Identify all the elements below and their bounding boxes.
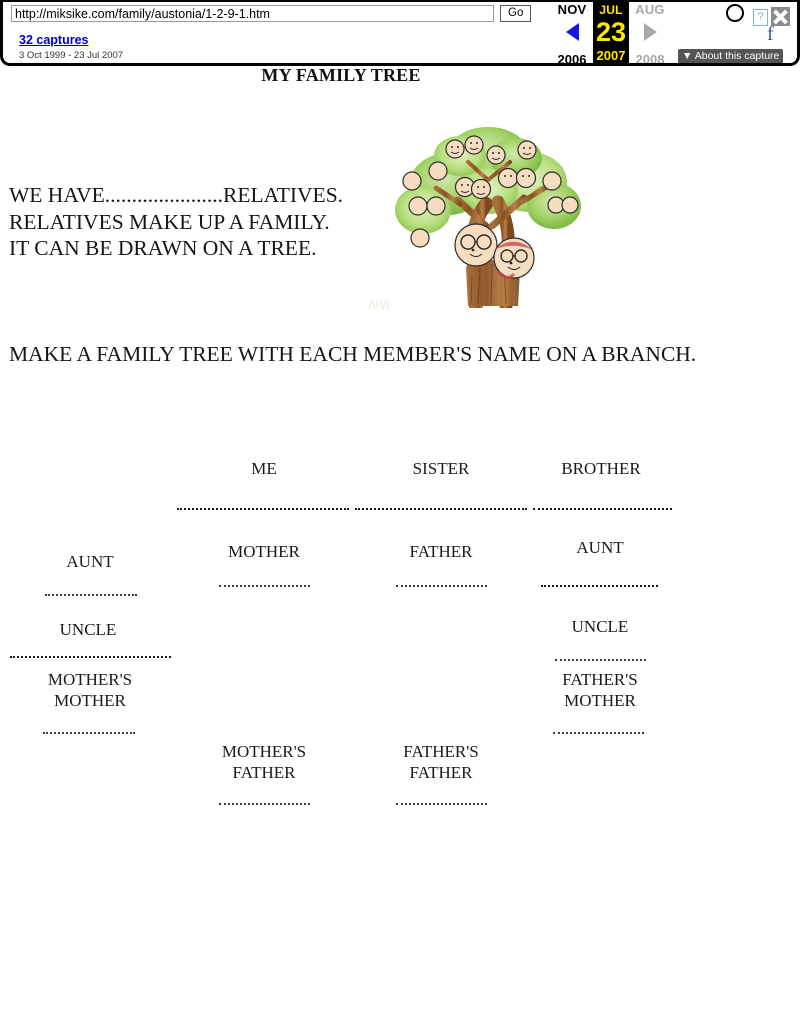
node-label: UNCLE <box>550 616 650 637</box>
next-capture-column[interactable]: AUG 2008 <box>629 2 671 66</box>
node-fathers-father: FATHER'S FATHER <box>391 741 491 783</box>
node-label: AUNT <box>40 551 140 572</box>
node-label: ME <box>214 458 314 479</box>
prev-capture-column[interactable]: NOV 2006 <box>551 2 593 66</box>
facebook-icon[interactable]: f <box>767 24 774 44</box>
node-label: MOTHER'S MOTHER <box>40 669 140 711</box>
family-tree-diagram: ME SISTER BROTHER AUNT MOTHER FATHER AUN… <box>0 440 800 840</box>
family-tree-illustration <box>388 118 588 308</box>
prev-month-label: NOV <box>551 2 593 18</box>
current-day-label: 23 <box>593 18 629 47</box>
write-line-father[interactable] <box>396 585 487 587</box>
node-label: FATHER'S FATHER <box>391 741 491 783</box>
node-aunt-right: AUNT <box>550 537 650 558</box>
node-label: FATHER <box>391 541 491 562</box>
node-label: MOTHER'S FATHER <box>214 741 314 783</box>
prev-capture-arrow[interactable] <box>551 23 593 51</box>
write-line-sister[interactable] <box>355 508 527 510</box>
node-label: UNCLE <box>38 619 138 640</box>
node-sister: SISTER <box>391 458 491 479</box>
node-fathers-mother: FATHER'S MOTHER <box>550 669 650 711</box>
wayback-toolbar: Go 32 captures 3 Oct 1999 - 23 Jul 2007 … <box>0 0 800 66</box>
node-label: AUNT <box>550 537 650 558</box>
arrow-left-icon[interactable] <box>566 23 579 41</box>
write-line-uncle-left[interactable] <box>10 656 171 658</box>
url-bar-row: Go <box>11 5 531 22</box>
write-line-aunt-right[interactable] <box>541 585 658 587</box>
intro-text: WE HAVE......................RELATIVES. … <box>9 182 343 262</box>
node-label: MOTHER <box>214 541 314 562</box>
help-icon[interactable]: ? <box>753 9 768 26</box>
write-line-fathers-father[interactable] <box>396 803 487 805</box>
node-uncle-right: UNCLE <box>550 616 650 637</box>
write-line-aunt-left[interactable] <box>45 594 137 596</box>
current-year-label: 2007 <box>593 47 629 64</box>
write-line-mothers-mother[interactable] <box>43 732 135 734</box>
write-line-me[interactable] <box>177 508 349 510</box>
write-line-uncle-right[interactable] <box>555 659 646 661</box>
page-title: MY FAMILY TREE <box>0 65 682 86</box>
node-uncle-left: UNCLE <box>38 619 138 640</box>
node-label: FATHER'S MOTHER <box>550 669 650 711</box>
about-this-capture-button[interactable]: ▼ About this capture <box>678 49 783 63</box>
next-capture-arrow[interactable] <box>629 23 671 51</box>
current-month-label: JUL <box>593 2 629 18</box>
instruction-text: MAKE A FAMILY TREE WITH EACH MEMBER'S NA… <box>9 342 696 367</box>
go-button[interactable]: Go <box>500 5 531 22</box>
next-month-label: AUG <box>629 2 671 18</box>
write-line-brother[interactable] <box>533 508 672 510</box>
write-line-mothers-father[interactable] <box>219 803 310 805</box>
captures-link[interactable]: 32 captures <box>19 33 88 47</box>
node-label: SISTER <box>391 458 491 479</box>
wayback-logo-icon <box>726 4 744 22</box>
node-mothers-father: MOTHER'S FATHER <box>214 741 314 783</box>
node-mother: MOTHER <box>214 541 314 562</box>
node-father: FATHER <box>391 541 491 562</box>
node-me: ME <box>214 458 314 479</box>
write-line-fathers-mother[interactable] <box>553 732 644 734</box>
illustration-credit-mark <box>366 296 392 312</box>
node-brother: BROTHER <box>551 458 651 479</box>
arrow-right-icon[interactable] <box>644 23 657 41</box>
node-label: BROTHER <box>551 458 651 479</box>
capture-date-range: 3 Oct 1999 - 23 Jul 2007 <box>19 50 123 61</box>
node-mothers-mother: MOTHER'S MOTHER <box>40 669 140 711</box>
current-capture-column: JUL 23 2007 <box>593 2 629 66</box>
write-line-mother[interactable] <box>219 585 310 587</box>
url-input[interactable] <box>11 5 494 22</box>
prev-year-label: 2006 <box>551 51 593 66</box>
node-aunt-left: AUNT <box>40 551 140 572</box>
next-year-label: 2008 <box>629 51 671 66</box>
